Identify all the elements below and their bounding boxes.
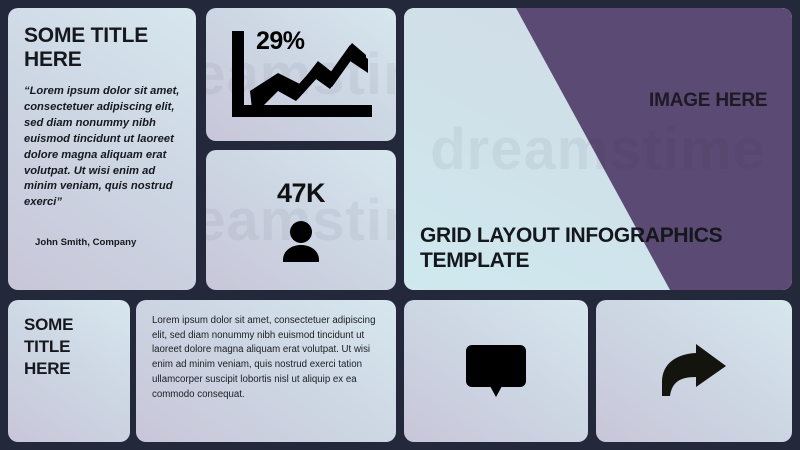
- hero-card: dreamstime IMAGE HERE GRID LAYOUT INFOGR…: [404, 8, 792, 290]
- speech-bubble-icon: [464, 343, 528, 399]
- hero-title: GRID LAYOUT INFOGRAPHICS TEMPLATE: [420, 224, 792, 274]
- bottom-card-title: SOME TITLE HERE: [24, 314, 120, 379]
- hero-image-placeholder: IMAGE HERE: [649, 90, 767, 112]
- stat-chart-inner: 29%: [206, 8, 396, 141]
- share-arrow-icon: [658, 342, 730, 400]
- quote-card-author: John Smith, Company: [35, 237, 136, 248]
- quote-card: SOME TITLE HERE “Lorem ipsum dolor sit a…: [8, 8, 196, 290]
- stat-users-value: 47K: [277, 178, 325, 209]
- chat-icon-inner: [404, 300, 588, 442]
- bottom-card-body: Lorem ipsum dolor sit amet, consectetuer…: [152, 314, 380, 402]
- share-icon-inner: [596, 300, 792, 442]
- bottom-title-card: SOME TITLE HERE: [8, 300, 130, 442]
- stat-card-chart: dreamstime 29%: [206, 8, 396, 141]
- quote-card-text: “Lorem ipsum dolor sit amet, consectetue…: [24, 84, 182, 211]
- user-icon: [278, 219, 324, 263]
- line-chart-graphic: 29%: [226, 29, 376, 121]
- share-icon-card: [596, 300, 792, 442]
- stat-card-users: dreamstime 47K: [206, 150, 396, 290]
- stat-chart-value: 29%: [256, 27, 305, 56]
- quote-card-title: SOME TITLE HERE: [24, 24, 182, 71]
- stat-users-inner: 47K: [206, 150, 396, 290]
- infographic-canvas: SOME TITLE HERE “Lorem ipsum dolor sit a…: [0, 0, 800, 450]
- bottom-body-card: Lorem ipsum dolor sit amet, consectetuer…: [136, 300, 396, 442]
- chat-icon-card: [404, 300, 588, 442]
